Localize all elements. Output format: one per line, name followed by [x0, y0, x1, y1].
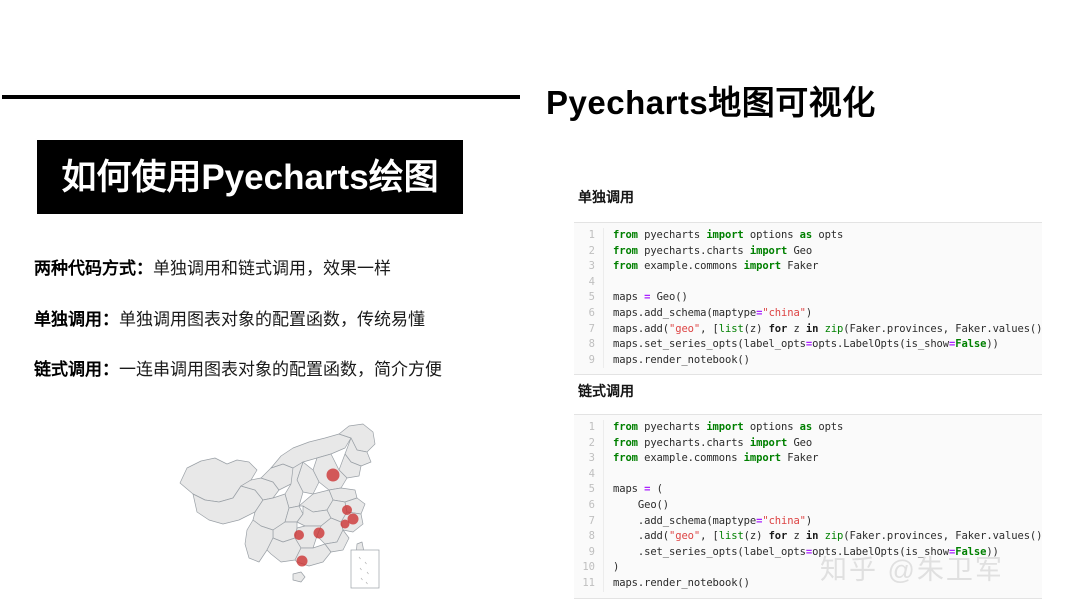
code-line: 7 .add_schema(maptype="china") — [574, 514, 1042, 530]
section-title-banner: 如何使用Pyecharts绘图 — [37, 140, 463, 214]
code-token: ) — [613, 561, 619, 573]
code-line-content: from pyecharts import options as opts — [604, 420, 843, 436]
code-line: 6maps.add_schema(maptype="china") — [574, 306, 1042, 322]
map-inset-box — [351, 550, 379, 588]
code-token: (Faker.provinces, Faker.values())]) — [843, 530, 1042, 542]
code-line-number: 5 — [574, 482, 603, 498]
section-heading-single-call: 单独调用 — [578, 187, 634, 207]
right-panel: Pyecharts地图可视化 单独调用 1from pyecharts impo… — [540, 0, 1080, 608]
code-line-content: from pyecharts.charts import Geo — [604, 244, 812, 260]
code-line: 8 .add("geo", [list(z) for z in zip(Fake… — [574, 529, 1042, 545]
code-token: Geo() — [650, 291, 687, 303]
code-token: import — [706, 421, 750, 433]
bullet-item: 链式调用：一连串调用图表对象的配置函数，简介方便 — [34, 360, 442, 380]
left-panel: 如何使用Pyecharts绘图 两种代码方式：单独调用和链式调用，效果一样 单独… — [0, 0, 540, 608]
code-line: 4 — [574, 467, 1042, 483]
code-line-content — [604, 275, 619, 291]
code-line-number: 4 — [574, 467, 603, 483]
bullet-item: 单独调用：单独调用图表对象的配置函数，传统易懂 — [34, 310, 425, 330]
code-line: 6 Geo() — [574, 498, 1042, 514]
code-line-number: 3 — [574, 451, 603, 467]
code-token: for — [769, 323, 788, 335]
code-token: as — [800, 421, 819, 433]
code-token: (Faker.provinces, Faker.values())]) — [843, 323, 1042, 335]
code-token: options — [750, 229, 800, 241]
code-line-number: 8 — [574, 337, 603, 353]
page-title: Pyecharts地图可视化 — [546, 76, 876, 124]
code-token: from — [613, 437, 644, 449]
code-token: example.commons — [644, 260, 744, 272]
code-token: options — [750, 421, 800, 433]
code-line-content: .set_series_opts(label_opts=opts.LabelOp… — [604, 545, 999, 561]
code-token: .add_schema(maptype — [613, 515, 756, 527]
code-line-number: 2 — [574, 244, 603, 260]
code-token: maps.add_schema(maptype — [613, 307, 756, 319]
code-token: example.commons — [644, 452, 744, 464]
bullet-text: 单独调用图表对象的配置函数，传统易懂 — [119, 310, 425, 329]
code-line-content: from pyecharts import options as opts — [604, 228, 843, 244]
code-token: pyecharts — [644, 229, 706, 241]
code-line: 3from example.commons import Faker — [574, 259, 1042, 275]
code-token: as — [800, 229, 819, 241]
section-title-text: 如何使用Pyecharts绘图 — [61, 160, 438, 195]
code-token: "geo" — [669, 323, 700, 335]
code-line-number: 4 — [574, 275, 603, 291]
code-line-content: ) — [604, 560, 619, 576]
code-line-content: maps.render_notebook() — [604, 576, 750, 592]
bullet-label: 两种代码方式： — [34, 259, 153, 278]
code-token: ( — [650, 483, 662, 495]
china-map-chart — [175, 420, 390, 595]
code-token: .add( — [613, 530, 669, 542]
code-line: 5maps = Geo() — [574, 290, 1042, 306]
horizontal-rule-divider — [2, 95, 520, 99]
code-token: maps.set_series_opts(label_opts — [613, 338, 806, 350]
code-token: maps — [613, 483, 644, 495]
code-line-content: maps.add("geo", [list(z) for z in zip(Fa… — [604, 322, 1042, 338]
bullet-label: 单独调用： — [34, 310, 119, 329]
code-block-single-call[interactable]: 1from pyecharts import options as opts2f… — [574, 222, 1042, 375]
code-token: False — [955, 338, 986, 350]
code-line: 5maps = ( — [574, 482, 1042, 498]
code-token: "china" — [762, 515, 806, 527]
bullet-item: 两种代码方式：单独调用和链式调用，效果一样 — [34, 259, 391, 279]
code-token: maps.add( — [613, 323, 669, 335]
code-token: Faker — [787, 260, 818, 272]
code-token: maps — [613, 291, 644, 303]
code-token: "geo" — [669, 530, 700, 542]
code-token: maps.render_notebook() — [613, 354, 750, 366]
code-token: )) — [986, 546, 998, 558]
code-line-number: 5 — [574, 290, 603, 306]
bullet-text: 单独调用和链式调用，效果一样 — [153, 259, 391, 278]
code-token: import — [744, 452, 788, 464]
code-token: z — [787, 323, 806, 335]
code-token: Geo — [793, 437, 812, 449]
code-token: Geo — [793, 245, 812, 257]
code-token: from — [613, 245, 644, 257]
code-line: 2from pyecharts.charts import Geo — [574, 436, 1042, 452]
code-token: opts.LabelOpts(is_show — [812, 338, 949, 350]
code-token: from — [613, 421, 644, 433]
code-token: from — [613, 452, 644, 464]
code-line: 4 — [574, 275, 1042, 291]
code-line-number: 3 — [574, 259, 603, 275]
code-token: from — [613, 260, 644, 272]
code-line-number: 2 — [574, 436, 603, 452]
code-line-content: maps.render_notebook() — [604, 353, 750, 369]
code-token: , [ — [700, 530, 719, 542]
code-line-number: 6 — [574, 498, 603, 514]
code-token: opts — [818, 421, 843, 433]
code-line-content: from pyecharts.charts import Geo — [604, 436, 812, 452]
bullet-label: 链式调用： — [34, 360, 119, 379]
code-token: (z) — [744, 323, 769, 335]
code-token: in — [806, 323, 818, 335]
code-token: zip — [825, 323, 844, 335]
code-block-chained-call[interactable]: 1from pyecharts import options as opts2f… — [574, 414, 1042, 599]
code-token: .set_series_opts(label_opts — [613, 546, 806, 558]
code-token: import — [706, 229, 750, 241]
code-line-number: 7 — [574, 322, 603, 338]
code-line: 2from pyecharts.charts import Geo — [574, 244, 1042, 260]
code-token: , [ — [700, 323, 719, 335]
code-token: pyecharts — [644, 421, 706, 433]
code-token: opts.LabelOpts(is_show — [812, 546, 949, 558]
code-line: 7maps.add("geo", [list(z) for z in zip(F… — [574, 322, 1042, 338]
code-line-number: 9 — [574, 545, 603, 561]
code-token: list — [719, 323, 744, 335]
code-token: maps.render_notebook() — [613, 577, 750, 589]
code-token: False — [955, 546, 986, 558]
code-line-number: 10 — [574, 560, 603, 576]
code-token: z — [787, 530, 806, 542]
bullet-text: 一连串调用图表对象的配置函数，简介方便 — [119, 360, 442, 379]
code-line-content: maps.set_series_opts(label_opts=opts.Lab… — [604, 337, 999, 353]
code-line-content: maps = ( — [604, 482, 663, 498]
code-token: for — [769, 530, 788, 542]
code-line-number: 8 — [574, 529, 603, 545]
code-line-content: .add("geo", [list(z) for z in zip(Faker.… — [604, 529, 1042, 545]
code-token: from — [613, 229, 644, 241]
code-line-content: maps.add_schema(maptype="china") — [604, 306, 812, 322]
code-token: in — [806, 530, 818, 542]
code-line: 10) — [574, 560, 1042, 576]
code-line: 3from example.commons import Faker — [574, 451, 1042, 467]
code-line-content: .add_schema(maptype="china") — [604, 514, 812, 530]
code-token: pyecharts.charts — [644, 245, 750, 257]
china-map-svg — [175, 420, 390, 595]
code-line-content: maps = Geo() — [604, 290, 688, 306]
section-heading-chained-call: 链式调用 — [578, 381, 634, 401]
code-token: import — [750, 437, 794, 449]
code-line-number: 6 — [574, 306, 603, 322]
code-line-number: 1 — [574, 228, 603, 244]
code-line: 1from pyecharts import options as opts — [574, 228, 1042, 244]
code-token: pyecharts.charts — [644, 437, 750, 449]
code-line: 11maps.render_notebook() — [574, 576, 1042, 592]
code-line-number: 9 — [574, 353, 603, 369]
code-token: Geo() — [613, 499, 669, 511]
code-token: Faker — [787, 452, 818, 464]
code-line: 1from pyecharts import options as opts — [574, 420, 1042, 436]
code-token: )) — [986, 338, 998, 350]
code-line-content: from example.commons import Faker — [604, 259, 818, 275]
code-line: 9maps.render_notebook() — [574, 353, 1042, 369]
code-token: zip — [825, 530, 844, 542]
code-line-content: Geo() — [604, 498, 669, 514]
code-token: "china" — [762, 307, 806, 319]
code-line-content: from example.commons import Faker — [604, 451, 818, 467]
code-token: list — [719, 530, 744, 542]
code-token: ) — [806, 307, 812, 319]
code-line: 8maps.set_series_opts(label_opts=opts.La… — [574, 337, 1042, 353]
code-token: ) — [806, 515, 812, 527]
code-line-content — [604, 467, 619, 483]
code-token: import — [750, 245, 794, 257]
code-line: 9 .set_series_opts(label_opts=opts.Label… — [574, 545, 1042, 561]
code-line-number: 7 — [574, 514, 603, 530]
code-line-number: 11 — [574, 576, 603, 592]
code-line-number: 1 — [574, 420, 603, 436]
code-token: import — [744, 260, 788, 272]
code-token: opts — [818, 229, 843, 241]
code-token: (z) — [744, 530, 769, 542]
